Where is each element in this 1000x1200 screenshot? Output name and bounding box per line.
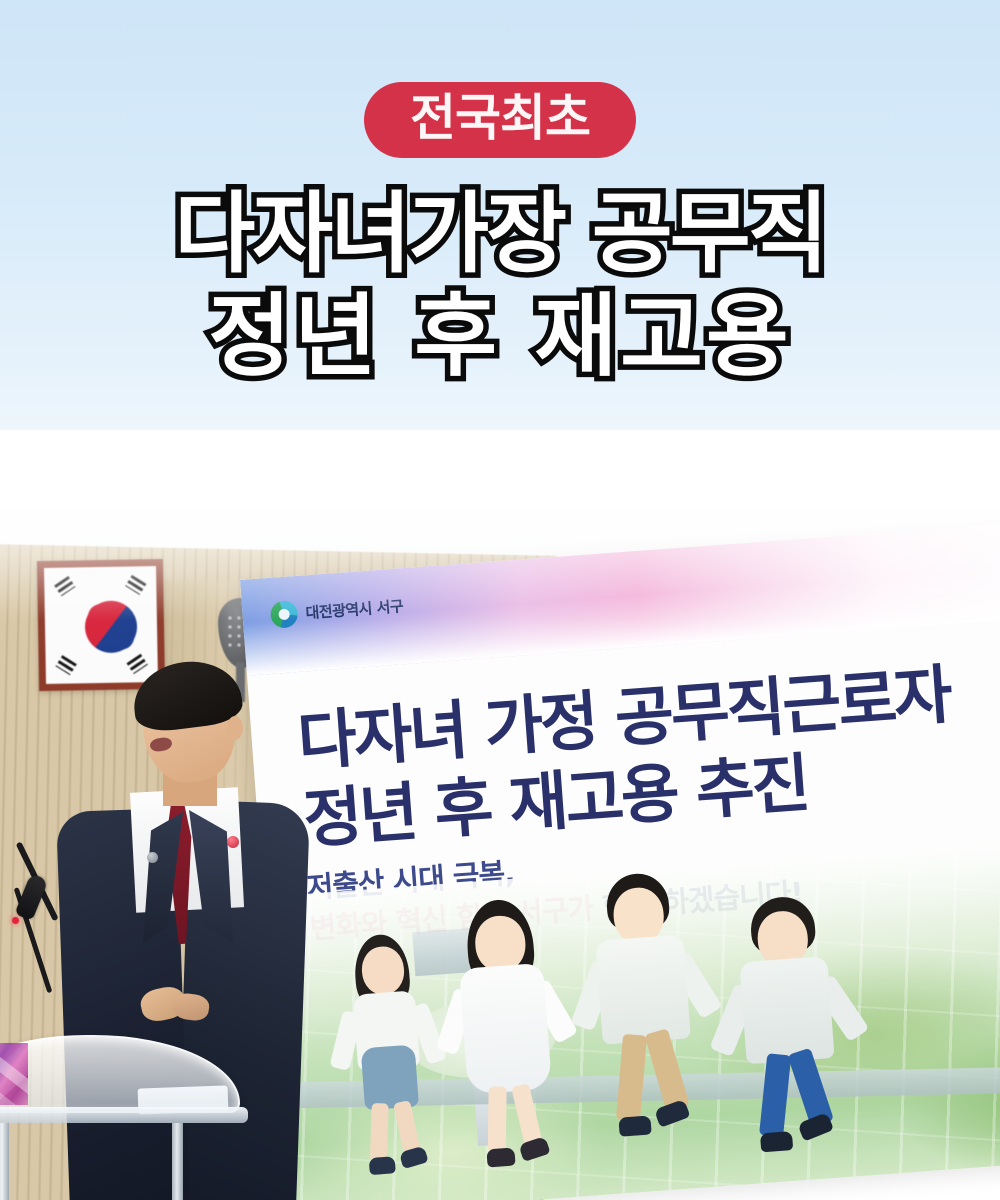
seogu-logo-text: 대전광역시 서구 [305,595,404,623]
lapel-pin-red-icon [227,836,239,848]
press-conference-photo: 대전광역시 서구 다자녀 가정 공무직근로자 정년 후 재고용 추진 저출산 시… [0,430,1000,1200]
shoe-left [618,1115,651,1136]
child-boy-khaki [571,869,728,1174]
trigram-gam-icon [125,575,146,595]
trigram-geon-icon [54,576,75,596]
jacket [595,934,690,1044]
presentation-screen: 대전광역시 서구 다자녀 가정 공무직근로자 정년 후 재고용 추진 저출산 시… [240,520,1000,1200]
leg-left [370,1103,389,1162]
leg-right [644,1028,689,1112]
overalls [361,1044,419,1110]
seo-gu-swirl-emblem-icon [270,600,299,629]
page-title: 다자녀가장 공무직 정년 후 재고용 [0,186,1000,386]
children-graphic [324,864,904,1200]
child-girl-overalls [326,931,454,1188]
shirt [739,956,834,1064]
headline-line-1: 다자녀가장 공무직 [0,186,1000,282]
podium-leg-right [172,1123,183,1200]
badge-container: 전국최초 [0,82,1000,158]
acrylic-podium [0,1005,240,1200]
ear [227,716,243,740]
shoe-right [654,1099,691,1128]
podium-emblem-graphic [0,1043,28,1105]
microphone-led-indicator [12,917,19,924]
first-in-nation-badge: 전국최초 [364,82,636,158]
lapel-pin-silver-icon [147,852,158,863]
shoe-left [486,1147,515,1167]
news-card: 전국최초 다자녀가장 공무직 정년 후 재고용 대전광역시 서구 [0,0,1000,1200]
leg-left [759,1053,791,1137]
podium-rim [0,1107,248,1123]
child-girl-white-dress [436,895,584,1186]
shoe-right [797,1112,834,1142]
taegeuk-icon [85,600,138,653]
leg-left [616,1034,647,1122]
child-boy-navy [713,892,873,1183]
shoe-left [760,1131,793,1152]
headline-line-2: 정년 후 재고용 [0,288,1000,386]
shoe-left [369,1156,396,1175]
podium-top-panel [0,1035,240,1113]
leg-left [488,1086,507,1152]
podium-leg-left [0,1123,9,1200]
dress [459,963,552,1095]
